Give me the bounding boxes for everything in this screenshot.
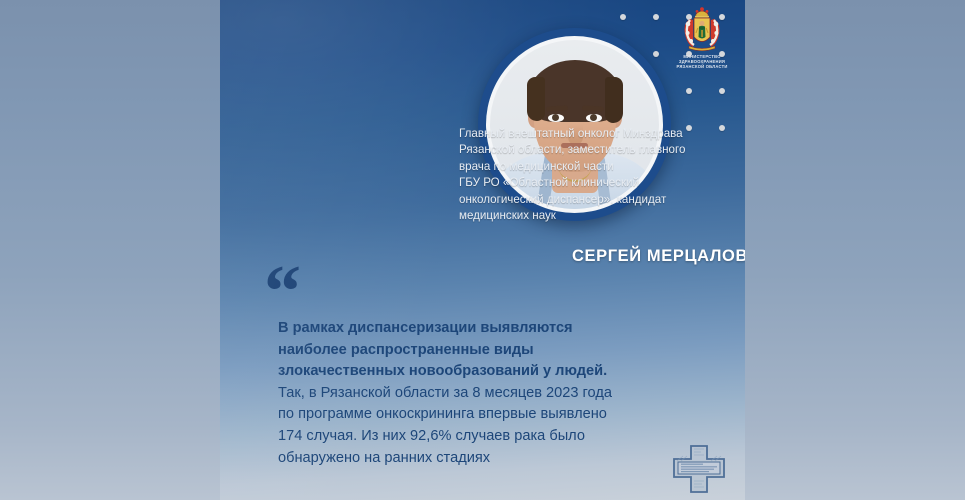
grid-dot [653, 51, 659, 57]
quote-bold-line: В рамках диспансеризации выявляются наиб… [278, 318, 728, 383]
grid-dot [719, 88, 725, 94]
quote-text: В рамках диспансеризации выявляются наиб… [278, 318, 728, 469]
person-name: СЕРГЕЙ МЕРЦАЛОВ [440, 247, 745, 266]
medical-cross-watermark-icon [671, 444, 727, 496]
ryazan-coat-of-arms-icon [679, 6, 725, 52]
grid-dot [653, 14, 659, 20]
medical-cross-watermark [671, 444, 727, 496]
quote-regular-line: Так, в Рязанской области за 8 месяцев 20… [278, 383, 728, 469]
ministry-emblem-caption: Министерство здравоохранения Рязанской о… [671, 54, 733, 70]
screenshot-stage: Министерство здравоохранения Рязанской о… [0, 0, 965, 500]
quote-card: Министерство здравоохранения Рязанской о… [220, 0, 745, 500]
person-bio: Главный внештатный онколог Минздрава Ряз… [459, 126, 731, 224]
grid-dot [686, 88, 692, 94]
ministry-emblem: Министерство здравоохранения Рязанской о… [671, 6, 733, 70]
grid-dot [620, 14, 626, 20]
